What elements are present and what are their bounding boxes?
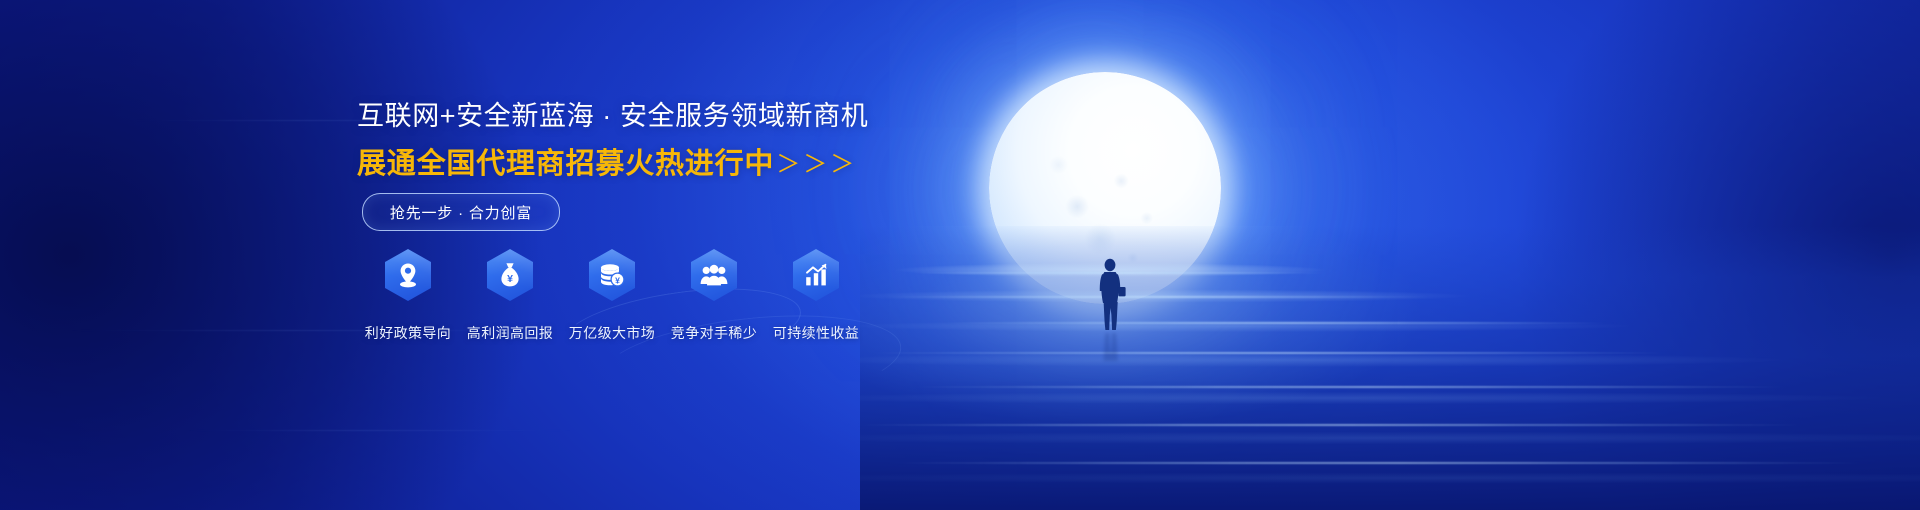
- feature-icon-hexagon: [691, 249, 737, 301]
- svg-text:¥: ¥: [507, 273, 513, 285]
- promo-banner: 互联网+安全新蓝海 · 安全服务领域新商机 展通全国代理商招募火热进行中＞＞＞ …: [0, 0, 1920, 510]
- feature-icon-hexagon: [385, 249, 431, 301]
- feature-icon-hexagon: [793, 249, 839, 301]
- feature-item[interactable]: 可持续性收益: [765, 249, 867, 343]
- feature-label: 利好政策导向: [365, 323, 451, 343]
- headline-secondary-text: 展通全国代理商招募火热进行中: [357, 148, 774, 180]
- feature-item[interactable]: ¥ 万亿级大市场: [561, 249, 663, 343]
- feature-icon-hexagon: ¥: [589, 249, 635, 301]
- cta-button-label: 抢先一步 · 合力创富: [390, 202, 532, 223]
- feature-label: 万亿级大市场: [569, 323, 655, 343]
- headline-secondary-row: 展通全国代理商招募火热进行中＞＞＞: [357, 145, 857, 184]
- svg-text:¥: ¥: [615, 275, 620, 285]
- feature-item[interactable]: ¥ 高利润高回报: [459, 249, 561, 343]
- money-bag-icon: ¥: [498, 262, 522, 288]
- feature-item[interactable]: 利好政策导向: [357, 249, 459, 343]
- banner-content: 互联网+安全新蓝海 · 安全服务领域新商机 展通全国代理商招募火热进行中＞＞＞ …: [0, 0, 1920, 510]
- coin-stack-icon: ¥: [599, 263, 625, 287]
- feature-icon-hexagon: ¥: [487, 249, 533, 301]
- bar-chart-icon: [804, 263, 828, 287]
- cta-button[interactable]: 抢先一步 · 合力创富: [362, 193, 560, 231]
- people-group-icon: [700, 264, 728, 286]
- feature-label: 可持续性收益: [773, 323, 859, 343]
- feature-label: 高利润高回报: [467, 323, 553, 343]
- location-pin-icon: [396, 262, 420, 288]
- feature-label: 竞争对手稀少: [671, 323, 757, 343]
- feature-list: 利好政策导向 ¥ 高利润高回报: [357, 249, 867, 343]
- headline-primary: 互联网+安全新蓝海 · 安全服务领域新商机: [357, 98, 868, 134]
- arrows-icon: ＞＞＞: [776, 151, 857, 178]
- feature-item[interactable]: 竞争对手稀少: [663, 249, 765, 343]
